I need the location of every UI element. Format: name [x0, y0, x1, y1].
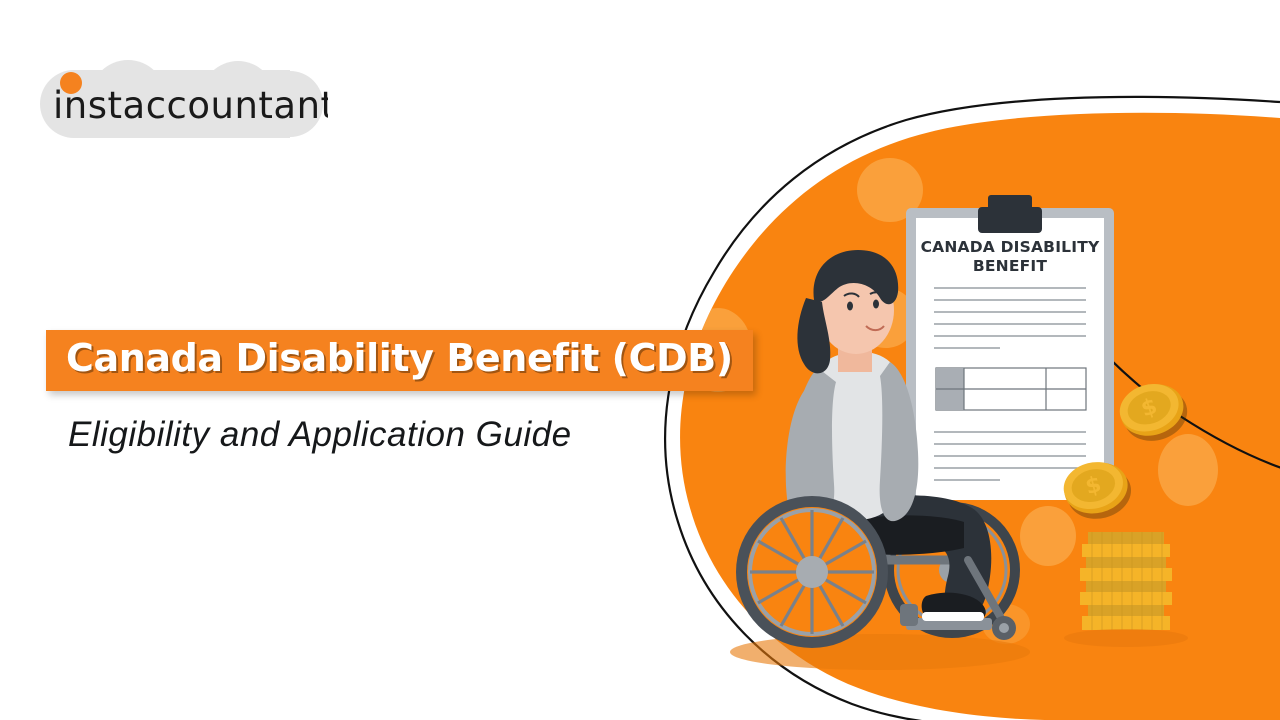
page-title: Canada Disability Benefit (CDB) [66, 336, 733, 380]
wheelchair-back-wheel [884, 502, 1020, 638]
clipboard-title-line-1: CANADA DISABILITY [921, 238, 1100, 256]
wheelchair-front-wheel [736, 496, 888, 648]
hero-text-block: Canada Disability Benefit (CDB) Eligibil… [46, 330, 646, 455]
person-head [818, 266, 894, 354]
person-hair-top [813, 250, 898, 304]
blob-outline-stroke-secondary [1006, 230, 1280, 474]
clipboard-title-line-2: BENEFIT [973, 257, 1048, 275]
page-subtitle: Eligibility and Application Guide [68, 415, 646, 455]
svg-text:$: $ [1083, 472, 1104, 500]
person-face-features [847, 300, 879, 311]
clipboard-clip-icon [978, 195, 1042, 233]
person-pants [862, 495, 991, 621]
wheelchair-caster-left [824, 610, 848, 634]
wheelchair-frame-front [836, 552, 1000, 616]
person-shirt [808, 351, 907, 520]
person-hair-back [797, 298, 830, 373]
coin-stack [1064, 532, 1188, 647]
hero-banner: instaccountant [0, 0, 1280, 720]
person-shoes [922, 593, 986, 621]
clipboard-rule-lines-top [934, 288, 1086, 348]
logo-wordmark: instaccountant [53, 84, 328, 127]
blob-outline-stroke [665, 97, 1280, 720]
person-arm [786, 382, 830, 560]
person-mouth [866, 326, 884, 330]
clipboard-table [936, 368, 1086, 410]
coin-dollar-symbol: $ [1138, 394, 1160, 423]
clipboard: CANADA DISABILITY BENEFIT [906, 195, 1114, 500]
person-in-wheelchair [736, 250, 1020, 648]
coin-upper: $ [1114, 375, 1194, 450]
person-jacket-left [792, 368, 836, 523]
person-hand [796, 546, 826, 577]
clipboard-rule-lines-bottom [934, 432, 1086, 480]
wheelchair-frame-back [886, 470, 978, 560]
wheelchair-seat [836, 515, 964, 554]
person-jacket-right [880, 362, 919, 521]
coin-stack-layer [1080, 532, 1172, 630]
page-title-badge: Canada Disability Benefit (CDB) [46, 330, 753, 391]
ground-shadow [730, 634, 1030, 670]
orange-blob [680, 113, 1280, 720]
blob-accent-circles [684, 158, 1218, 644]
brand-logo[interactable]: instaccountant [38, 58, 328, 142]
person-neck [838, 330, 872, 372]
coin-lower: $ [1059, 455, 1137, 526]
wheelchair-caster-right [992, 616, 1016, 640]
wheelchair-footplate [900, 604, 992, 630]
